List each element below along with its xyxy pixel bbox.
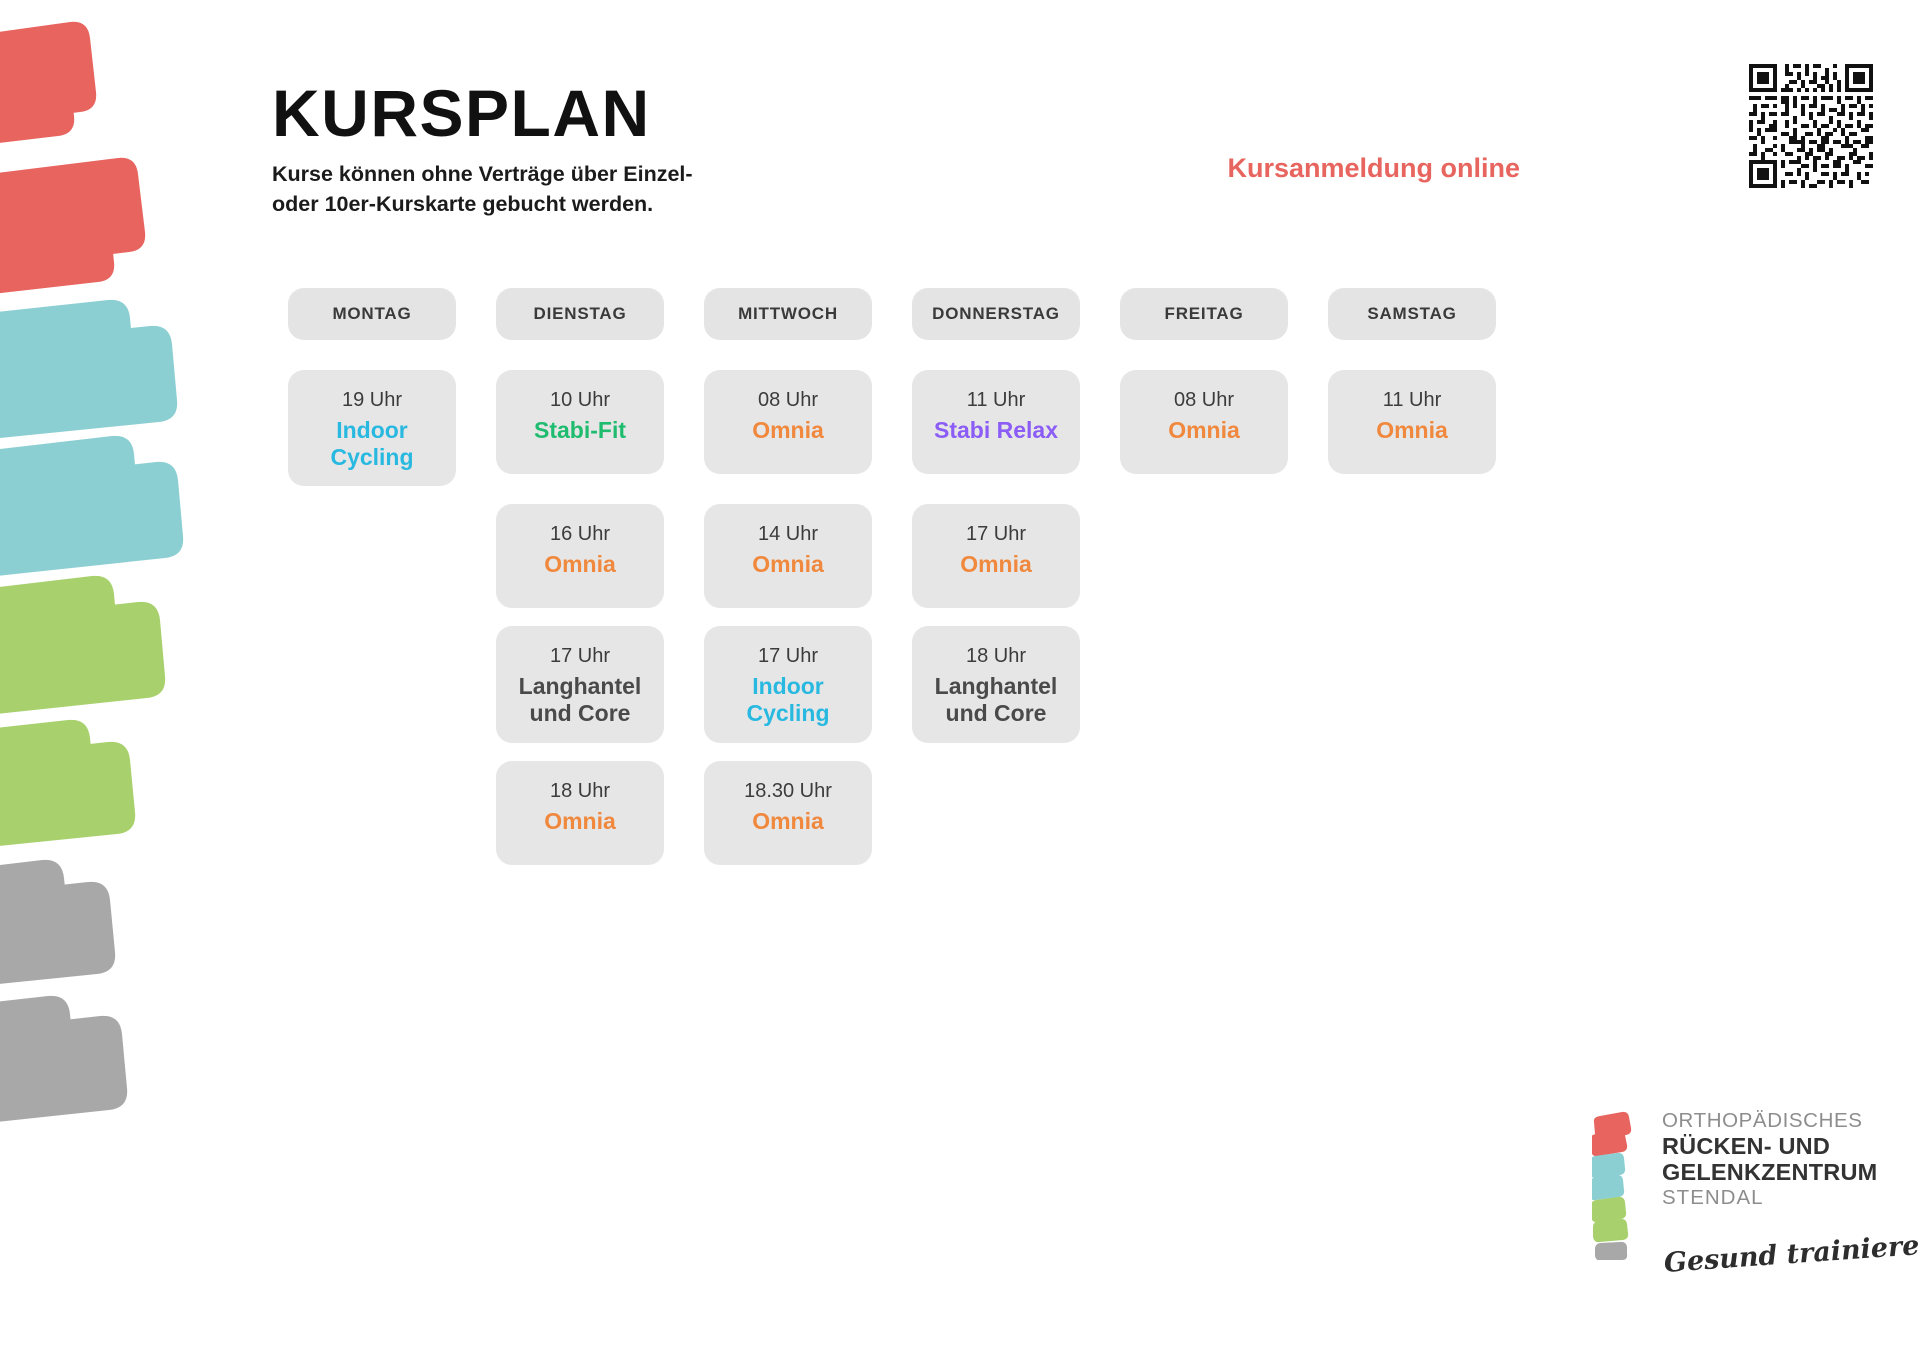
course-schedule-grid: MONTAGDIENSTAGMITTWOCHDONNERSTAGFREITAGS…: [288, 288, 1496, 865]
day-header-mittwoch: MITTWOCH: [704, 288, 872, 340]
course-card[interactable]: 17 UhrOmnia: [912, 504, 1080, 608]
course-card[interactable]: 17 UhrIndoor Cycling: [704, 626, 872, 742]
course-name: Langhantel und Core: [922, 673, 1070, 726]
vertebra-green-1: [0, 576, 165, 720]
course-name: Stabi-Fit: [534, 417, 626, 444]
course-name: Omnia: [960, 551, 1032, 578]
logo-line-gelenkzentrum: GELENKZENTRUM: [1662, 1159, 1888, 1185]
course-name: Stabi Relax: [934, 417, 1058, 444]
brand-tagline: Gesund trainieren !: [1663, 1227, 1920, 1279]
course-card[interactable]: 11 UhrStabi Relax: [912, 370, 1080, 474]
logo-line-ruecken-und: RÜCKEN- UND: [1662, 1133, 1888, 1159]
course-name: Omnia: [752, 417, 824, 444]
course-time: 18 Uhr: [550, 779, 610, 803]
course-card[interactable]: 16 UhrOmnia: [496, 504, 664, 608]
course-time: 11 Uhr: [967, 388, 1026, 412]
spine-decoration-graphic: [0, 0, 230, 1358]
course-name: Omnia: [752, 808, 824, 835]
page-subtitle-line-2: oder 10er-Kurskarte gebucht werden.: [272, 190, 802, 220]
course-card[interactable]: 17 UhrLanghantel und Core: [496, 626, 664, 742]
brand-logo-text: ORTHOPÄDISCHES RÜCKEN- UND GELENKZENTRUM…: [1662, 1110, 1888, 1210]
course-card[interactable]: 14 UhrOmnia: [704, 504, 872, 608]
course-card[interactable]: 10 UhrStabi-Fit: [496, 370, 664, 474]
course-name: Omnia: [544, 808, 616, 835]
course-name: Omnia: [752, 551, 824, 578]
course-time: 08 Uhr: [1174, 388, 1234, 412]
qr-code[interactable]: [1745, 60, 1877, 192]
course-card[interactable]: 19 UhrIndoor Cycling: [288, 370, 456, 486]
course-time: 16 Uhr: [550, 522, 610, 546]
course-card[interactable]: 18.30 UhrOmnia: [704, 761, 872, 865]
course-card[interactable]: 08 UhrOmnia: [704, 370, 872, 474]
course-time: 14 Uhr: [758, 522, 818, 546]
spine-logo-mark: [1592, 1108, 1654, 1260]
vertebra-gray-2: [0, 996, 127, 1128]
course-name: Indoor Cycling: [298, 417, 446, 470]
course-time: 17 Uhr: [966, 522, 1026, 546]
day-header-freitag: FREITAG: [1120, 288, 1288, 340]
page-header: KURSPLAN Kurse können ohne Verträge über…: [272, 80, 832, 219]
online-signup-label: Kursanmeldung online: [1227, 153, 1520, 184]
course-card[interactable]: 11 UhrOmnia: [1328, 370, 1496, 474]
vertebra-gray-1: [0, 860, 115, 990]
vertebra-teal-2: [0, 436, 183, 582]
vertebra-teal-1: [0, 300, 177, 444]
course-time: 19 Uhr: [342, 388, 402, 412]
page-title: KURSPLAN: [272, 80, 832, 146]
logo-line-stendal: STENDAL: [1662, 1186, 1888, 1211]
page-subtitle-line-1: Kurse können ohne Verträge über Einzel-: [272, 160, 802, 190]
vertebra-red-2: [0, 158, 145, 300]
vertebra-green-2: [0, 720, 135, 852]
course-time: 18 Uhr: [966, 644, 1026, 668]
course-name: Indoor Cycling: [714, 673, 862, 726]
course-name: Omnia: [1376, 417, 1448, 444]
day-header-dienstag: DIENSTAG: [496, 288, 664, 340]
course-time: 18.30 Uhr: [744, 779, 832, 803]
page-subtitle: Kurse können ohne Verträge über Einzel- …: [272, 160, 802, 219]
course-name: Langhantel und Core: [506, 673, 654, 726]
course-time: 08 Uhr: [758, 388, 818, 412]
course-card[interactable]: 18 UhrOmnia: [496, 761, 664, 865]
day-header-donnerstag: DONNERSTAG: [912, 288, 1080, 340]
day-header-montag: MONTAG: [288, 288, 456, 340]
course-time: 17 Uhr: [550, 644, 610, 668]
brand-logo: ORTHOPÄDISCHES RÜCKEN- UND GELENKZENTRUM…: [1592, 1108, 1888, 1298]
logo-line-orthopaedisches: ORTHOPÄDISCHES: [1662, 1110, 1888, 1133]
course-time: 11 Uhr: [1383, 388, 1442, 412]
course-time: 17 Uhr: [758, 644, 818, 668]
day-header-samstag: SAMSTAG: [1328, 288, 1496, 340]
course-time: 10 Uhr: [550, 388, 610, 412]
vertebra-red-1: [0, 22, 96, 150]
course-card[interactable]: 08 UhrOmnia: [1120, 370, 1288, 474]
course-name: Omnia: [544, 551, 616, 578]
course-card[interactable]: 18 UhrLanghantel und Core: [912, 626, 1080, 742]
course-name: Omnia: [1168, 417, 1240, 444]
